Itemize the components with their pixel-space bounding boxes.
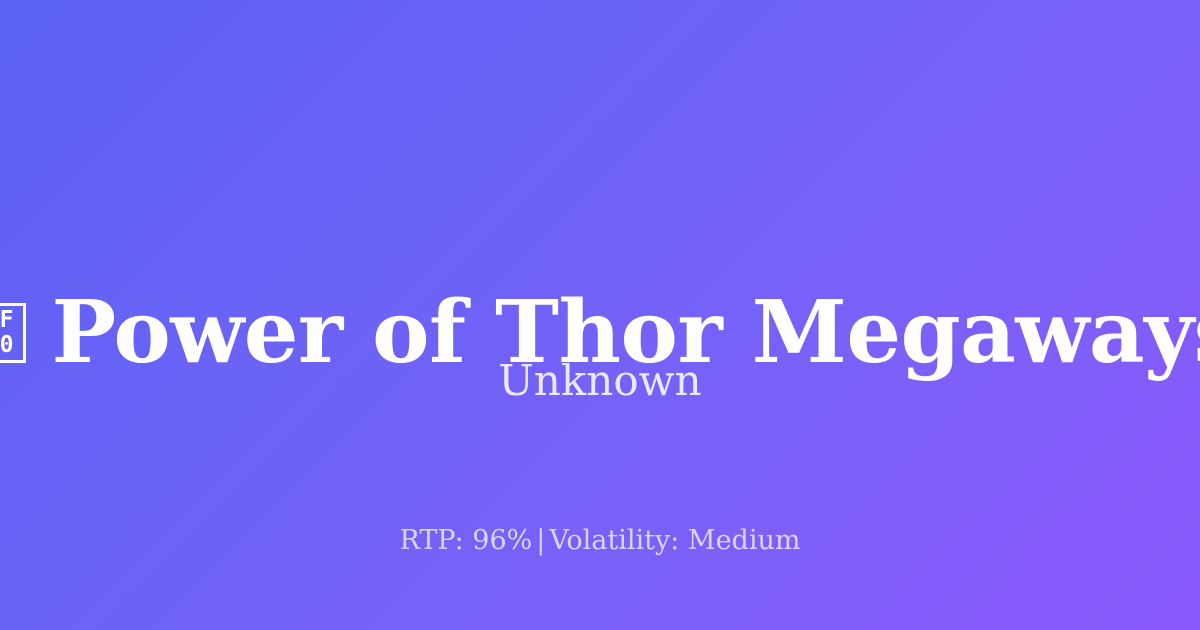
volatility-value: Volatility: Medium — [549, 525, 800, 556]
og-preview-card: 01F 3B0 Power of Thor Megaways Unknown R… — [0, 0, 1200, 630]
provider-subtitle: Unknown — [0, 360, 1200, 402]
game-meta-line: RTP: 96%|Volatility: Medium — [0, 527, 1200, 554]
tofu-codepoint-top: 01F — [0, 308, 14, 333]
meta-separator: | — [532, 525, 549, 556]
tofu-codepoint-bottom: 3B0 — [0, 333, 14, 358]
slot-machine-icon: 01F 3B0 — [0, 303, 26, 363]
rtp-value: RTP: 96% — [400, 525, 533, 556]
